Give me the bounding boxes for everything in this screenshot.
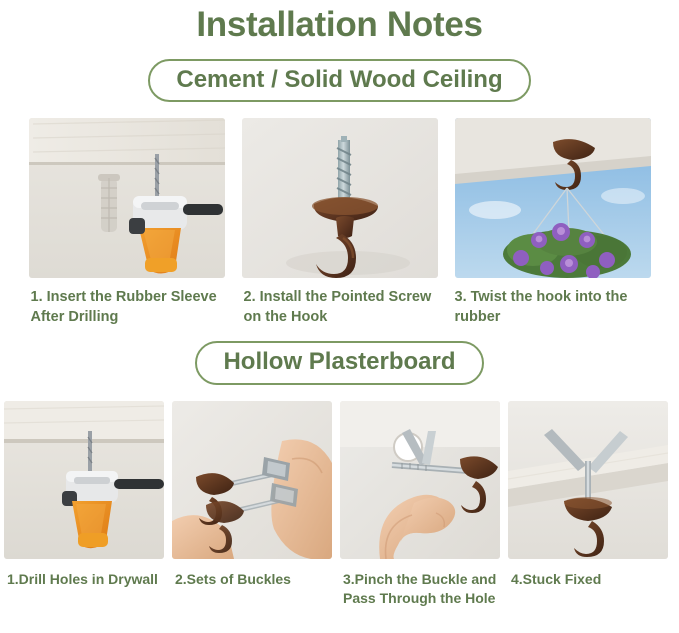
section-heading-cement-solid-wood-ceiling: Cement / Solid Wood Ceiling (148, 59, 530, 103)
step-card-3: 3. Twist the hook into the rubber (455, 118, 651, 327)
step-caption-2: 2. Install the Pointed Screw on the Hook (242, 288, 438, 327)
page-title: Installation Notes (0, 6, 679, 45)
sets-of-buckles-photo (172, 401, 332, 559)
step-caption-5: 2.Sets of Buckles (172, 570, 332, 589)
step-caption-3: 3. Twist the hook into the rubber (455, 288, 651, 327)
step-caption-6: 3.Pinch the Buckle and Pass Through the … (340, 570, 500, 608)
installation-notes-page: Installation Notes Cement / Solid Wood C… (0, 6, 679, 633)
step-card-4: 1.Drill Holes in Drywall (4, 401, 164, 608)
drill-holes-in-drywall-photo (4, 401, 164, 559)
section-2-steps-row: 1.Drill Holes in Drywall (0, 401, 679, 608)
step-card-6: 3.Pinch the Buckle and Pass Through the … (340, 401, 500, 608)
step-card-5: 2.Sets of Buckles (172, 401, 332, 608)
drill-with-rubber-sleeve-photo (29, 118, 225, 278)
pinch-buckle-through-hole-photo (340, 401, 500, 559)
section-1-steps-row: 1. Insert the Rubber Sleeve After Drilli… (0, 118, 679, 327)
hook-with-pointed-screw-photo (242, 118, 438, 278)
ceiling-hook-with-hanging-flower-basket-photo (455, 118, 651, 278)
step-card-1: 1. Insert the Rubber Sleeve After Drilli… (29, 118, 225, 327)
step-card-2: 2. Install the Pointed Screw on the Hook (242, 118, 438, 327)
toggle-bolt-stuck-fixed-photo (508, 401, 668, 559)
section-heading-hollow-plasterboard: Hollow Plasterboard (195, 341, 483, 385)
step-card-7: 4.Stuck Fixed (508, 401, 668, 608)
step-caption-4: 1.Drill Holes in Drywall (4, 570, 164, 589)
step-caption-7: 4.Stuck Fixed (508, 570, 668, 589)
step-caption-1: 1. Insert the Rubber Sleeve After Drilli… (29, 288, 225, 327)
